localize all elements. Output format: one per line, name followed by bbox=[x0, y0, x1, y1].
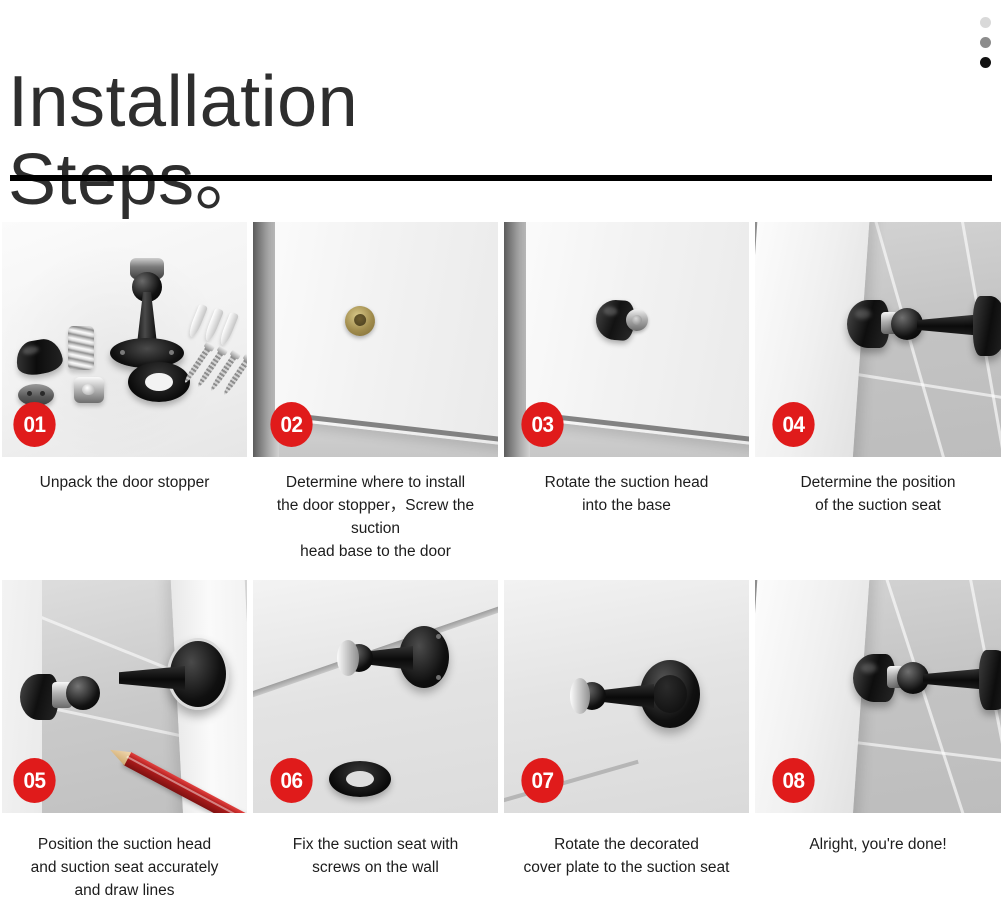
step-photo-04: 04 bbox=[755, 222, 1001, 457]
step-card-02: 02 Determine where to install the door s… bbox=[253, 222, 498, 563]
step-photo-01: 01 bbox=[2, 222, 247, 457]
page-title-line-1: Installation bbox=[8, 62, 358, 142]
step-badge-01: 01 bbox=[13, 402, 55, 447]
step-badge-07: 07 bbox=[521, 758, 563, 803]
step-badge-05: 05 bbox=[13, 758, 55, 803]
o-ring-loose bbox=[329, 761, 391, 797]
step-caption-06: Fix the suction seat with screws on the … bbox=[253, 833, 498, 879]
steps-grid: 01 Unpack the door stopper 02 bbox=[0, 222, 1001, 899]
step-badge-03: 03 bbox=[521, 402, 563, 447]
step-caption-04: Determine the position of the suction se… bbox=[755, 471, 1001, 517]
step-card-08: 08 Alright, you're done! bbox=[755, 580, 1001, 856]
step-caption-03: Rotate the suction head into the base bbox=[504, 471, 749, 517]
steps-row-2: 05 Position the suction head and suction… bbox=[0, 580, 1001, 899]
spring-part bbox=[68, 326, 94, 370]
o-ring-part bbox=[128, 362, 190, 402]
step-photo-06: 06 bbox=[253, 580, 498, 813]
suction-head-held bbox=[20, 666, 116, 720]
step-badge-04: 04 bbox=[772, 402, 814, 447]
step-photo-08: 08 bbox=[755, 580, 1001, 813]
step-caption-01: Unpack the door stopper bbox=[2, 471, 247, 494]
pager-dot-3-icon[interactable] bbox=[980, 57, 991, 68]
chrome-nut-part bbox=[74, 377, 104, 403]
steps-row-1: 01 Unpack the door stopper 02 bbox=[0, 222, 1001, 580]
step-card-07: 07 Rotate the decorated cover plate to t… bbox=[504, 580, 749, 879]
step-photo-07: 07 bbox=[504, 580, 749, 813]
step-badge-06: 06 bbox=[270, 758, 312, 803]
step-caption-08: Alright, you're done! bbox=[755, 833, 1001, 856]
pager-dot-2-icon[interactable] bbox=[980, 37, 991, 48]
step-badge-02: 02 bbox=[270, 402, 312, 447]
step-badge-08: 08 bbox=[772, 758, 814, 803]
pager-dots[interactable] bbox=[975, 17, 995, 68]
suction-head-installed bbox=[596, 298, 652, 342]
pager-dot-1-icon[interactable] bbox=[980, 17, 991, 28]
step-card-03: 03 Rotate the suction head into the base bbox=[504, 222, 749, 517]
page-header: Installation Steps。 bbox=[0, 0, 1001, 200]
step-card-06: 06 Fix the suction seat with screws on t… bbox=[253, 580, 498, 879]
step-caption-07: Rotate the decorated cover plate to the … bbox=[504, 833, 749, 879]
step-card-01: 01 Unpack the door stopper bbox=[2, 222, 247, 494]
header-divider bbox=[10, 175, 992, 181]
installation-steps-page: Installation Steps。 bbox=[0, 0, 1001, 899]
step-photo-02: 02 bbox=[253, 222, 498, 457]
step-card-05: 05 Position the suction head and suction… bbox=[2, 580, 247, 899]
main-stopper-part bbox=[106, 258, 186, 376]
step-card-04: 04 Determine the position of the suction… bbox=[755, 222, 1001, 517]
step-caption-05: Position the suction head and suction se… bbox=[2, 833, 247, 899]
step-photo-05: 05 bbox=[2, 580, 247, 813]
step-caption-02: Determine where to install the door stop… bbox=[253, 471, 498, 563]
step-photo-03: 03 bbox=[504, 222, 749, 457]
